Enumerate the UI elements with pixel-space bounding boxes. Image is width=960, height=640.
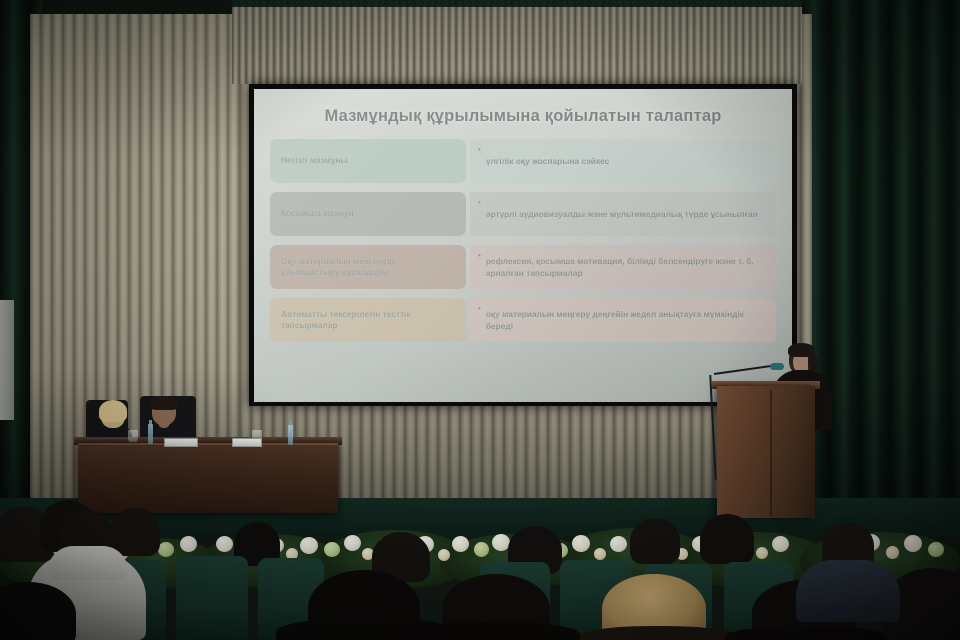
audience-area bbox=[0, 498, 960, 640]
audience-member-front-shoulders bbox=[580, 626, 736, 640]
audience-member-jacket bbox=[796, 560, 900, 622]
screen-surface: Мазмұндық құрылымына қойылатын талаптар … bbox=[254, 89, 792, 402]
audience-member-front-shoulders bbox=[412, 622, 580, 640]
projection-screen: Мазмұндық құрылымына қойылатын талаптар … bbox=[249, 84, 797, 406]
audience-member bbox=[110, 508, 160, 556]
auditorium-seat bbox=[176, 556, 248, 640]
flipchart-board bbox=[0, 300, 14, 420]
water-bottle bbox=[288, 425, 293, 445]
panelist-right-hand bbox=[158, 414, 170, 428]
microphone-icon bbox=[770, 363, 784, 370]
panelist-left-hair bbox=[99, 400, 127, 422]
audience-member bbox=[700, 514, 754, 564]
water-bottle bbox=[148, 424, 153, 444]
audience-member-front-shoulders bbox=[726, 626, 886, 640]
name-card bbox=[232, 438, 262, 447]
conference-hall-photo: Мазмұндық құрылымына қойылатын талаптар … bbox=[0, 0, 960, 640]
name-card bbox=[164, 438, 198, 447]
panelist-right-hair bbox=[150, 396, 178, 410]
audience-member bbox=[630, 518, 680, 564]
audience-member-hood bbox=[48, 546, 128, 580]
drinking-glass bbox=[128, 430, 138, 442]
screen-glare-overlay bbox=[254, 89, 792, 402]
